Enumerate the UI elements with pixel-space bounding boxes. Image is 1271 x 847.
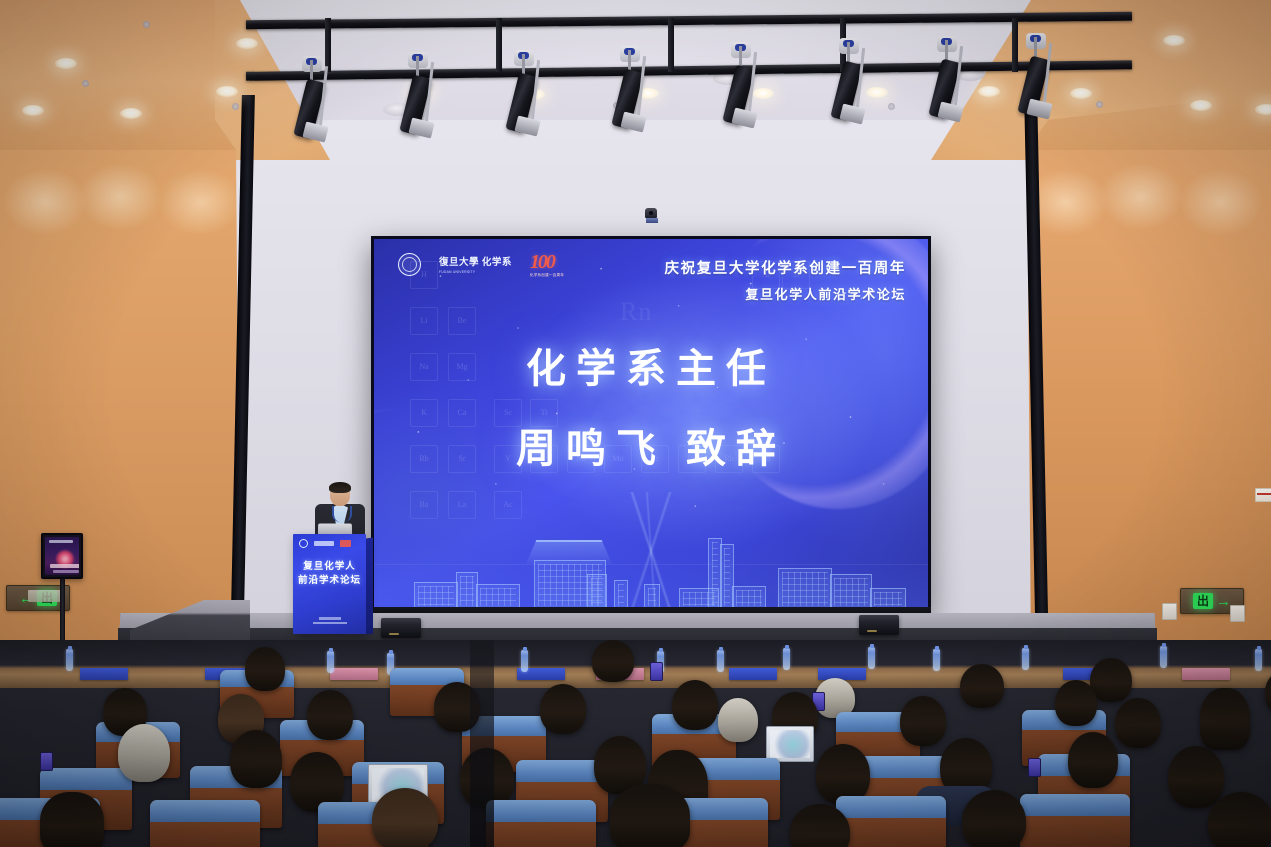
camera-lens [649,211,653,215]
sprinkler-head [888,103,895,110]
water-bottle [66,649,73,671]
light-barndoor [1026,98,1052,119]
water-bottle [327,651,334,673]
audience-head [372,788,438,847]
building-silhouette [778,568,832,610]
speaker-person [313,483,367,541]
audience-head [1115,698,1161,748]
wall-notice-placard [1255,488,1271,502]
header-line-1: 庆祝复旦大学化学系创建一百周年 [665,257,907,278]
podium-footer [293,615,366,626]
anniversary-subtitle: 化学系创建一百周年 [530,273,576,278]
fudan-university-seal-icon [398,253,421,276]
downlight [236,38,258,49]
podium: 复旦化学人 前沿学术论坛 [293,534,366,634]
title-line-1: 化学系主任 [374,336,928,394]
poster-header-bar [49,540,73,543]
audience-head [672,680,718,730]
ceiling-camera [645,208,659,224]
podium-side-panel [366,537,373,634]
auditorium-scene: H Li Be Na Mg K Ca Rb Sr Sc Ti Y Zr Nb M… [0,0,1271,847]
downlight [1070,88,1092,99]
stage-monitor-speaker [381,618,421,638]
downlight [120,108,142,119]
water-bottle [717,650,724,672]
podium-logo [299,539,351,548]
exit-glyph-icon: 出 [1193,593,1213,609]
fudan-wordmark: 復旦大學 化学系 FUDAN UNIVERSITY [439,254,512,274]
audience-head [540,684,586,734]
light-barndoor [514,115,540,136]
audience-head [118,724,170,782]
title-line-2: 周鸣飞 致辞 [374,416,928,474]
wall-glow-right [1021,150,1271,280]
light-barndoor [302,121,328,142]
podium-footer-line [319,617,341,620]
podium-wordmark [314,541,334,546]
audience-area [0,640,1271,847]
podium-footer-line [313,622,347,625]
arrow-right-icon: → [1216,594,1231,609]
poster-content [45,537,79,575]
audience-head [230,730,282,788]
smartphone[interactable] [650,662,663,681]
stage-light [616,50,656,134]
side-wall-left [0,0,250,660]
podium-seal-icon [299,539,308,548]
water-bottle [868,647,875,669]
stage-light [510,54,550,138]
audience-head [900,696,946,746]
audience-head [718,698,758,742]
wall-switch-plate[interactable] [1162,603,1177,620]
water-bottle [1160,646,1167,668]
water-bottle [1022,648,1029,670]
light-barndoor [620,111,646,132]
building-silhouette [456,572,478,610]
downlight [216,86,238,97]
audience-head [592,640,634,682]
podium-anniversary-mark [340,540,351,547]
name-card [330,668,378,680]
downlight [1190,100,1212,111]
audience-head [1090,658,1132,702]
stage-light [835,42,875,126]
element-watermark-large: Rn [620,297,652,327]
laptop[interactable] [766,726,814,762]
audience-head [40,792,104,847]
building-silhouette [414,582,458,610]
audience-head [816,744,870,804]
centennial-logo: 100 化学系创建一百周年 [530,252,576,276]
speaker-lanyard [332,506,352,522]
stage-light [933,40,973,124]
anniversary-number: 100 [530,252,576,272]
sprinkler-head [143,21,150,28]
water-bottle [1255,649,1262,671]
audience-head [1168,746,1224,808]
sprinkler-head [82,80,89,87]
podium-line-1: 复旦化学人 [293,560,366,574]
seat[interactable] [1020,794,1130,847]
truss-brace [668,18,674,72]
department-name-cn: 化学系 [482,258,512,268]
wall-switch-plate[interactable] [1230,605,1245,622]
speaker-hair [329,482,351,493]
audience-head [962,790,1026,847]
building-silhouette [830,574,872,610]
university-name-cn: 復旦大學 [439,258,479,268]
stage-monitor-speaker [859,615,899,635]
building-silhouette [587,574,607,610]
building-silhouette [614,580,628,610]
light-barndoor [408,117,434,138]
smartphone[interactable] [40,752,53,771]
audience-head [1068,732,1118,788]
screen-logo-row: 復旦大學 化学系 FUDAN UNIVERSITY 100 化学系创建一百周年 [398,252,576,276]
water-bottle [933,649,940,671]
seat[interactable] [150,800,260,847]
stage-light [404,56,444,140]
ceiling-strip-left [0,0,250,150]
podium-line-2: 前沿学术论坛 [293,574,366,588]
name-card [1182,668,1230,680]
center-aisle [470,640,494,847]
downlight [1255,104,1271,115]
university-name-en: FUDAN UNIVERSITY [439,270,512,274]
name-card [818,668,866,680]
water-bottle [783,648,790,670]
light-barndoor [937,101,963,122]
stage-light [298,60,338,144]
audience-head [245,647,285,691]
digital-poster-display[interactable] [41,533,83,579]
seat[interactable] [836,796,946,847]
downlight [55,58,77,69]
screen-header: 庆祝复旦大学化学系创建一百周年 复旦化学人前沿学术论坛 [665,257,907,303]
poster-title-bar [50,564,79,568]
downlight [22,105,44,116]
downlight [1163,35,1185,46]
light-barndoor [839,103,865,124]
poster-subtitle-bar [53,570,79,573]
name-card [80,668,128,680]
camera-head [645,208,657,218]
screen-main-title: 化学系主任 周鸣飞 致辞 [374,336,928,474]
seat[interactable] [486,800,596,847]
sprinkler-head [1096,101,1103,108]
audience-head [610,784,690,847]
audience-head [307,690,353,740]
camera-mount [646,218,658,223]
audience-head [960,664,1004,708]
stage-floor [120,613,1156,629]
name-card [729,668,777,680]
audience-head [1200,688,1250,750]
stage-light [727,46,767,130]
audience-head [1208,792,1271,847]
screen-surface: H Li Be Na Mg K Ca Rb Sr Sc Ti Y Zr Nb M… [374,239,928,610]
element-cell: Li [410,307,438,335]
sprinkler-head [232,103,239,110]
wall-vent-grill [28,590,62,602]
led-screen[interactable]: H Li Be Na Mg K Ca Rb Sr Sc Ti Y Zr Nb M… [371,236,931,613]
audience-head [1055,680,1097,726]
downlight [978,86,1000,97]
stage-light [1022,37,1062,121]
smartphone[interactable] [1028,758,1041,777]
truss-brace [496,18,502,72]
water-bottle [521,650,528,672]
truss-brace [1012,18,1018,72]
wall-glow-left [0,150,250,280]
podium-text: 复旦化学人 前沿学术论坛 [293,560,366,589]
city-skyline-graphic [374,492,928,610]
element-cell: Be [448,307,476,335]
light-barndoor [731,107,757,128]
header-line-2: 复旦化学人前沿学术论坛 [665,284,907,303]
